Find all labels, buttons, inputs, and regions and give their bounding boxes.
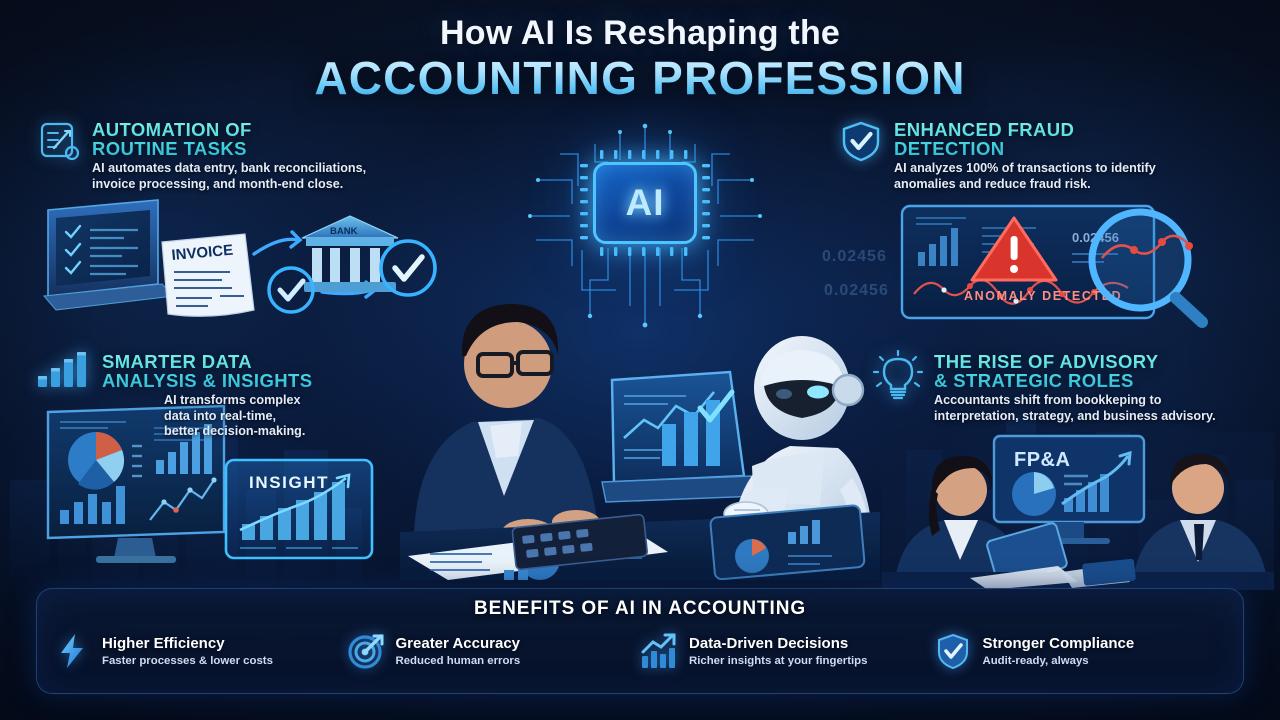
section-body: AI automates data entry, bank reconcilia…	[92, 161, 366, 192]
section-automation: AUTOMATION OF ROUTINE TASKS AI automates…	[36, 118, 456, 192]
document-pen-icon	[36, 118, 82, 164]
section-body: AI analyzes 100% of transactions to iden…	[894, 161, 1156, 192]
svg-text:BANK: BANK	[330, 226, 358, 237]
section-body: Accountants shift from bookkeping to int…	[934, 393, 1280, 424]
benefit-item[interactable]: Greater Accuracy Reduced human errors	[347, 632, 641, 670]
benefit-name: Greater Accuracy	[396, 635, 521, 652]
section-heading: AUTOMATION OF ROUTINE TASKS	[92, 120, 366, 158]
lightning-bolt-icon	[53, 632, 91, 670]
section-insights: SMARTER DATA ANALYSIS & INSIGHTS AI tran…	[36, 350, 436, 440]
section-fraud: ENHANCED FRAUD DETECTION AI analyzes 100…	[838, 118, 1258, 192]
advisory-illustration: FP&A	[882, 432, 1274, 590]
fpa-label: FP&A	[1014, 449, 1070, 471]
invoice-document-icon: INVOICE	[162, 234, 254, 316]
title-block: How AI Is Reshaping the ACCOUNTING PROFE…	[0, 14, 1280, 105]
shield-check-icon	[934, 632, 972, 670]
benefit-item[interactable]: Data-Driven Decisions Richer insights at…	[640, 632, 934, 670]
anomaly-alert-label: ANOMALY DETECTED	[964, 289, 1122, 303]
insight-label: INSIGHT	[249, 473, 329, 492]
benefits-row: Higher Efficiency Faster processes & low…	[37, 632, 1243, 670]
section-heading: ENHANCED FRAUD DETECTION	[894, 120, 1156, 158]
benefit-sub: Audit-ready, always	[983, 654, 1135, 668]
accountant-robot-scene	[400, 260, 880, 580]
title-line-1: How AI Is Reshaping the	[0, 14, 1280, 53]
tablet-dashboard-icon	[710, 505, 865, 580]
infographic-canvas: How AI Is Reshaping the ACCOUNTING PROFE…	[0, 0, 1280, 720]
insight-panel-icon: INSIGHT	[226, 460, 372, 558]
benefits-panel: BENEFITS OF AI IN ACCOUNTING Higher Effi…	[36, 588, 1244, 694]
section-advisory: THE RISE OF ADVISORY & STRATEGIC ROLES A…	[872, 350, 1264, 424]
benefit-sub: Faster processes & lower costs	[102, 654, 273, 668]
growth-chart-icon	[640, 632, 678, 670]
lightbulb-icon	[872, 350, 924, 400]
benefit-sub: Reduced human errors	[396, 654, 521, 668]
benefit-item[interactable]: Stronger Compliance Audit-ready, always	[934, 632, 1228, 670]
fraud-detection-illustration: ANOMALY DETECTED 0.02456	[896, 198, 1226, 328]
benefit-name: Stronger Compliance	[983, 635, 1135, 652]
laptop-icon	[44, 200, 174, 310]
ai-chip-body: AI	[593, 162, 697, 244]
bar-chart-icon	[36, 350, 92, 388]
title-line-2: ACCOUNTING PROFESSION	[0, 51, 1280, 105]
automation-illustration: INVOICE BANK	[40, 192, 450, 322]
benefit-name: Data-Driven Decisions	[689, 635, 867, 652]
ai-chip-label: AI	[626, 182, 665, 224]
laptop-chart-screen	[602, 372, 760, 502]
benefit-name: Higher Efficiency	[102, 635, 273, 652]
shield-check-icon	[838, 118, 884, 164]
section-body: AI transforms complex data into real-tim…	[164, 393, 464, 440]
benefit-item[interactable]: Higher Efficiency Faster processes & low…	[53, 632, 347, 670]
benefits-title: BENEFITS OF AI IN ACCOUNTING	[37, 598, 1243, 620]
section-heading: THE RISE OF ADVISORY & STRATEGIC ROLES	[934, 352, 1280, 390]
section-heading: SMARTER DATA ANALYSIS & INSIGHTS	[102, 352, 464, 390]
benefit-sub: Richer insights at your fingertips	[689, 654, 867, 668]
target-arrow-icon	[347, 632, 385, 670]
